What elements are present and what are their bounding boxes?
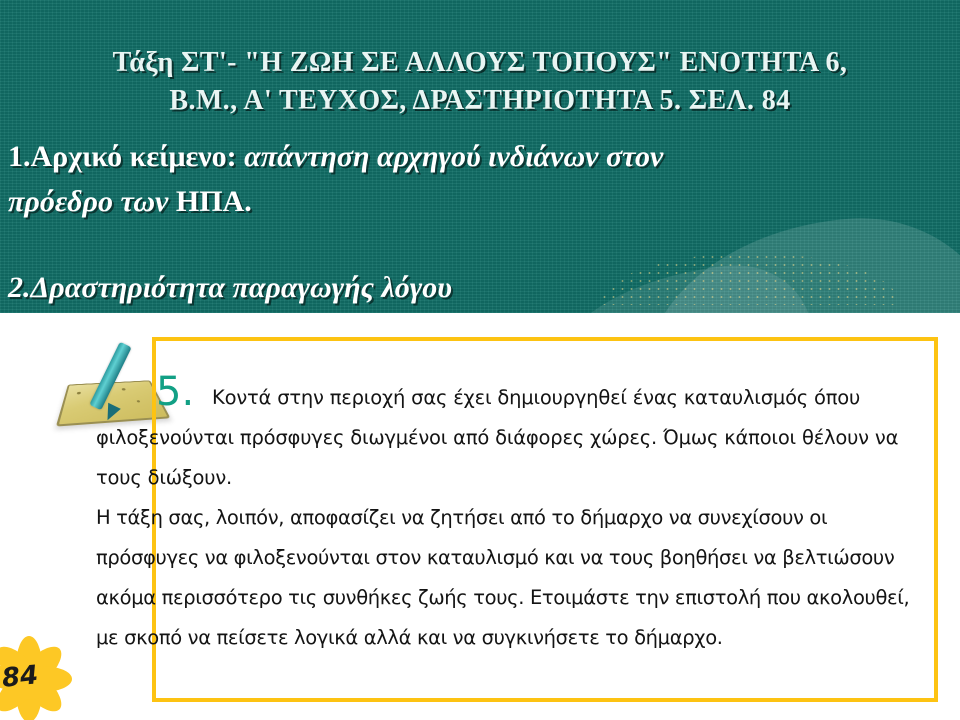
slide-canvas: Τάξη ΣΤ'- "Η ΖΩΗ ΣΕ ΑΛΛΟΥΣ ΤΟΠΟΥΣ" ΕΝΟΤΗ…: [0, 0, 960, 720]
subtitle-1-line2-acronym: ΗΠΑ.: [176, 185, 252, 218]
subtitle-block-2: 2.Δραστηριότητα παραγωγής λόγου: [8, 265, 908, 310]
subtitle-1-value: απάντηση αρχηγού ινδιάνων στον: [237, 140, 664, 173]
title-line-1: Τάξη ΣΤ'- "Η ΖΩΗ ΣΕ ΑΛΛΟΥΣ ΤΟΠΟΥΣ" ΕΝΟΤΗ…: [0, 44, 960, 82]
subtitle-1-line2-value: πρόεδρο των: [8, 185, 176, 218]
exercise-body: 5. Κοντά στην περιοχή σας έχει δημιουργη…: [96, 378, 936, 658]
page-number: 84: [1, 660, 40, 694]
exercise-paragraph-2: Η τάξη σας, λοιπόν, αποφασίζει να ζητήσε…: [96, 498, 934, 658]
subtitle-block-1: 1.Αρχικό κείμενο: απάντηση αρχηγού ινδιά…: [8, 134, 888, 224]
subtitle-1-line-2: πρόεδρο των ΗΠΑ.: [8, 179, 888, 224]
title-line-2: Β.Μ., Α' ΤΕΥΧΟΣ, ΔΡΑΣΤΗΡΙΟΤΗΤΑ 5. ΣΕΛ. 8…: [0, 82, 960, 120]
subtitle-2-line: 2.Δραστηριότητα παραγωγής λόγου: [8, 265, 908, 310]
slide-title: Τάξη ΣΤ'- "Η ΖΩΗ ΣΕ ΑΛΛΟΥΣ ΤΟΠΟΥΣ" ΕΝΟΤΗ…: [0, 44, 960, 120]
exercise-number: 5.: [156, 372, 194, 412]
subtitle-1-line-1: 1.Αρχικό κείμενο: απάντηση αρχηγού ινδιά…: [8, 134, 888, 179]
subtitle-1-label: 1.Αρχικό κείμενο:: [8, 140, 237, 173]
exercise-paragraph-1: Κοντά στην περιοχή σας έχει δημιουργηθεί…: [96, 378, 936, 498]
flower-icon: 84: [0, 628, 88, 720]
